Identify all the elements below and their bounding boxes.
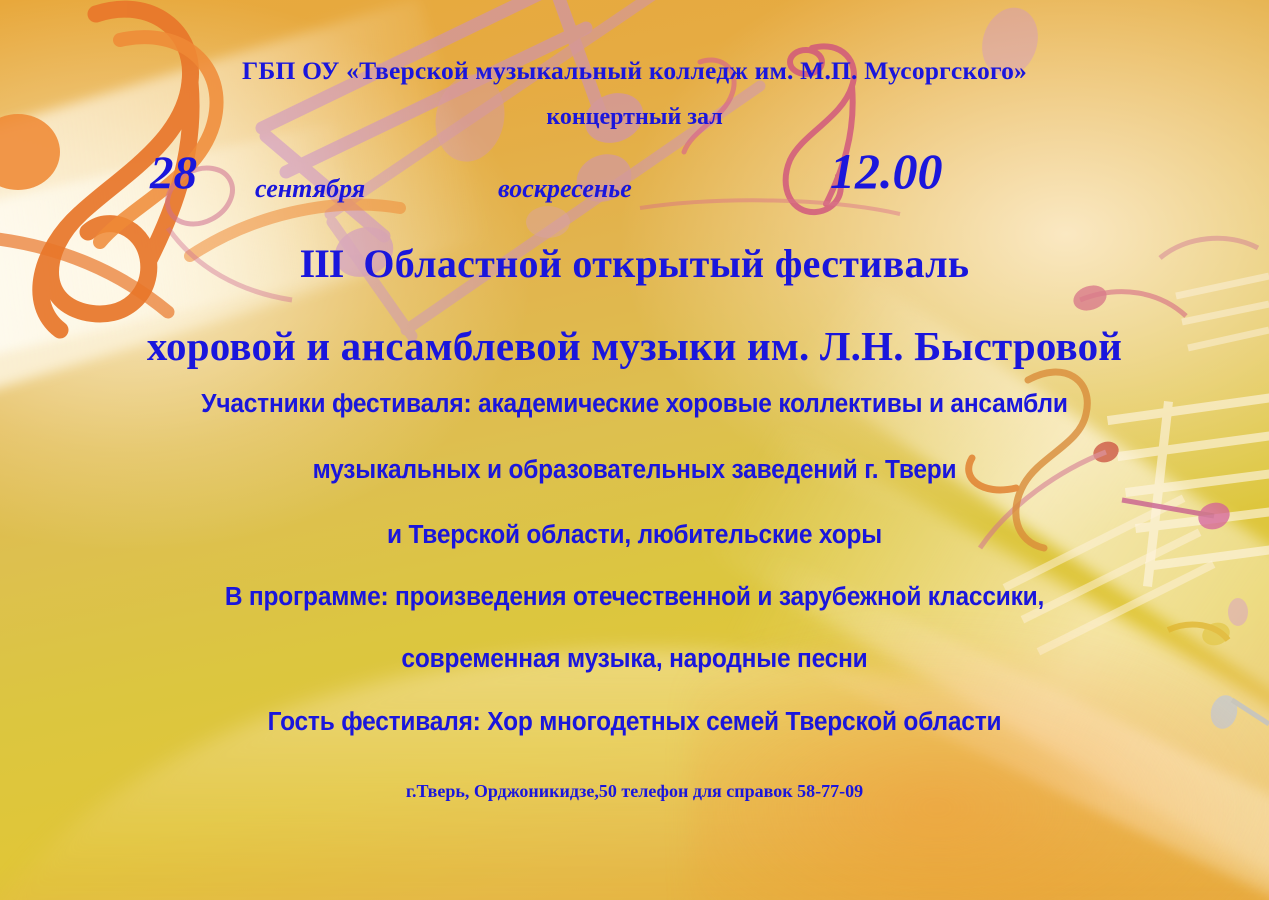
contact-footer: г.Тверь, Орджоникидзе,50 телефон для спр… [0, 781, 1269, 802]
background-decorations [0, 0, 1269, 900]
note-heads-pink-icon [0, 0, 1269, 900]
venue-name: концертный зал [0, 104, 1269, 131]
body-line-4: В программе: произведения отечественной … [25, 583, 1243, 612]
festival-title-line2: хоровой и ансамблевой музыки им. Л.Н. Бы… [0, 322, 1269, 370]
event-weekday: воскресенье [498, 174, 632, 204]
event-month: сентября [255, 174, 365, 204]
festival-title-line1: IIIОбластной открытый фестиваль [0, 240, 1269, 287]
eighth-notes-lilac-icon [0, 0, 1269, 900]
concert-poster: ГБП ОУ «Тверской музыкальный колледж им.… [0, 0, 1269, 900]
body-line-1: Участники фестиваля: академические хоров… [25, 390, 1243, 419]
event-time: 12.00 [830, 142, 943, 200]
treble-clef-pink-icon [0, 0, 1269, 900]
body-line-3: и Тверской области, любительские хоры [25, 521, 1243, 550]
body-line-6: Гость фестиваля: Хор многодетных семей Т… [25, 708, 1243, 737]
bottom-light-sweep [0, 650, 1269, 900]
festival-edition: III [300, 241, 364, 286]
organization-name: ГБП ОУ «Тверской музыкальный колледж им.… [0, 56, 1269, 86]
body-line-2: музыкальных и образовательных заведений … [25, 456, 1243, 485]
festival-title-text: Областной открытый фестиваль [363, 241, 969, 286]
event-day: 28 [150, 146, 197, 200]
staff-lines-white-icon [0, 0, 1269, 900]
body-line-5: современная музыка, народные песни [25, 645, 1243, 674]
treble-clef-orange-icon [0, 0, 1269, 900]
event-date-row: 28 сентября воскресенье 12.00 [0, 150, 1269, 220]
